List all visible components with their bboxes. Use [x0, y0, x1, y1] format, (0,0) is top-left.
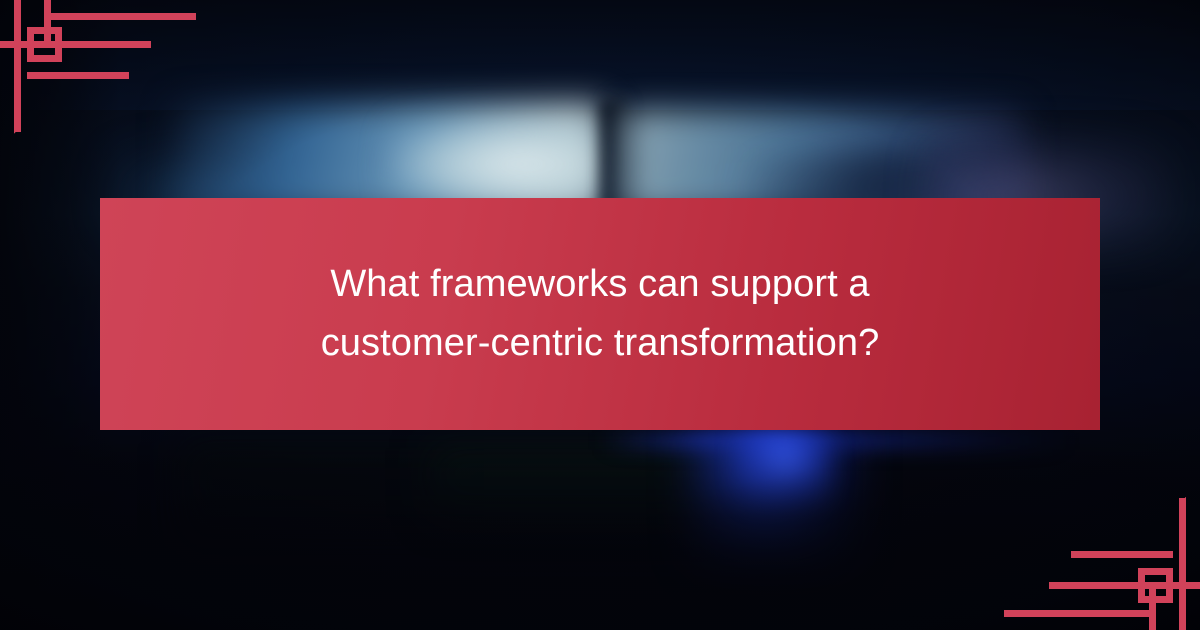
- headline-banner: What frameworks can support a customer-c…: [100, 198, 1100, 430]
- quote-card: What frameworks can support a customer-c…: [0, 0, 1200, 630]
- headline-text: What frameworks can support a customer-c…: [300, 255, 900, 373]
